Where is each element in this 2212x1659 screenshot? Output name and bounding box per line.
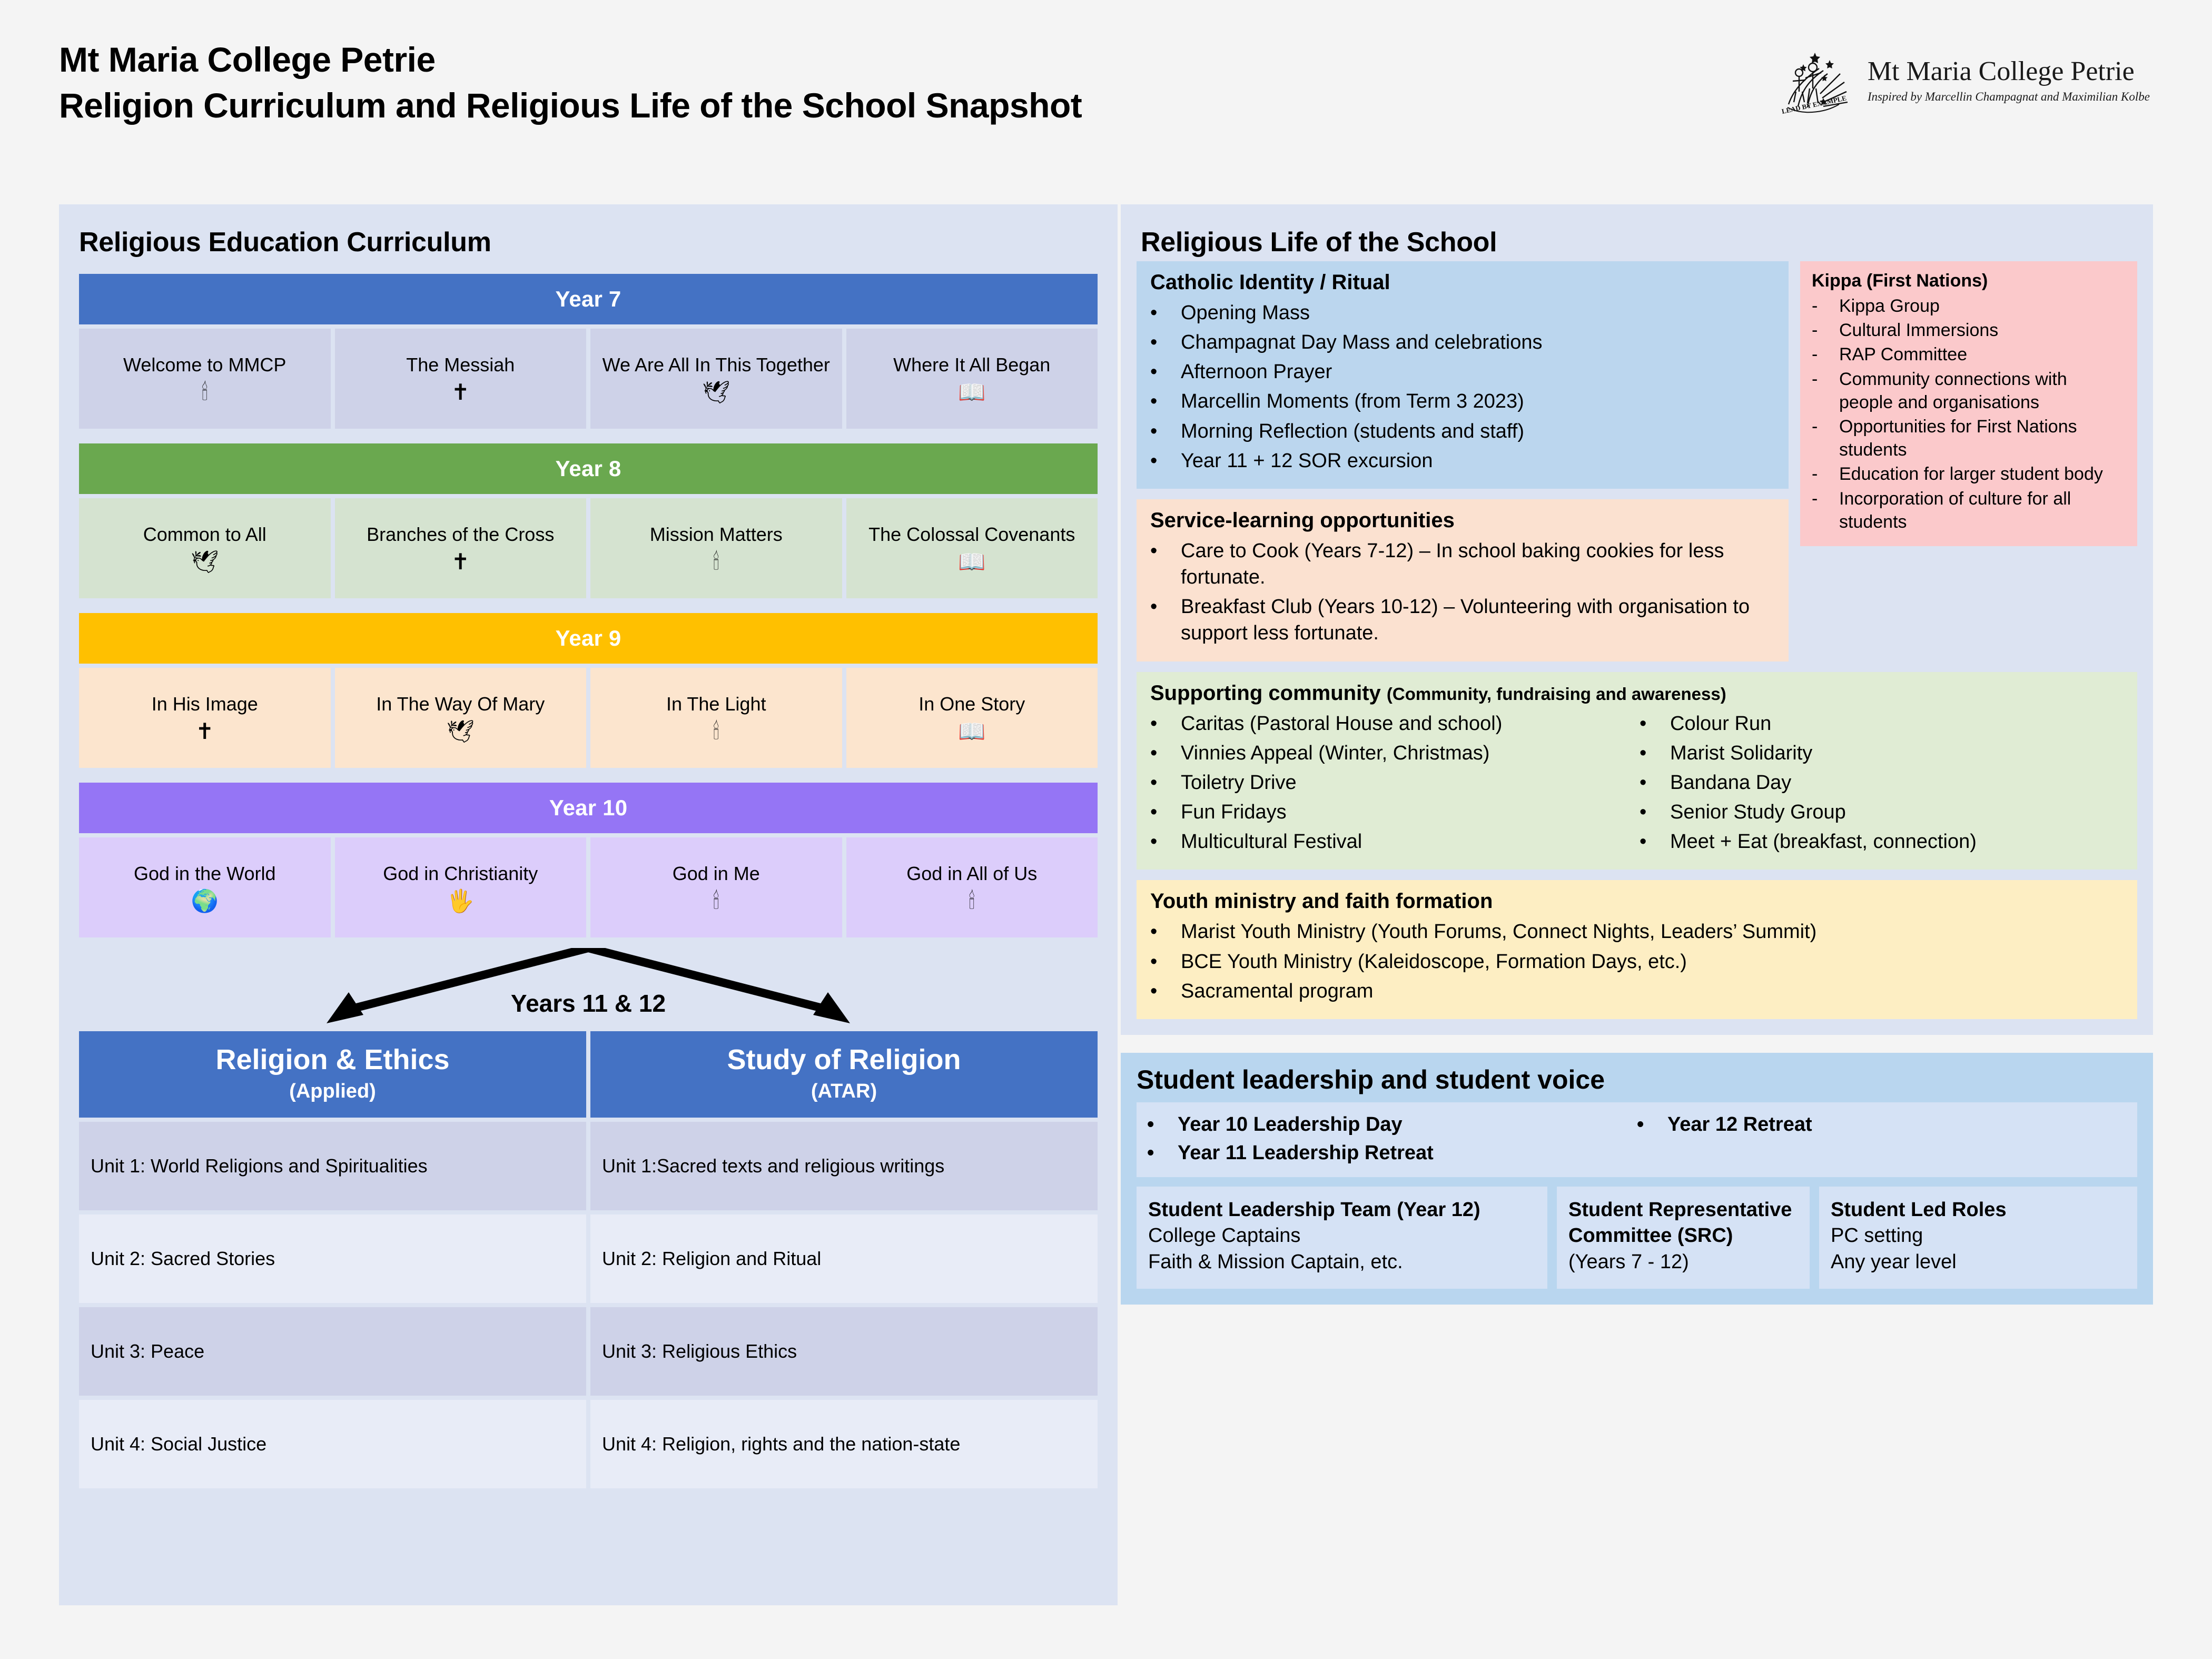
dash-icon: - xyxy=(1812,368,1839,414)
unit-card[interactable]: God in the World 🌍 xyxy=(79,837,331,937)
unit-column-religion-ethics: Unit 1: World Religions and Spiritualiti… xyxy=(79,1122,586,1488)
religious-life-panel-title: Religious Life of the School xyxy=(1121,204,2153,258)
year-10-units: God in the World 🌍 God in Christianity 🖐… xyxy=(79,837,1098,937)
bullet-icon: • xyxy=(1150,388,1181,414)
bullet-icon: • xyxy=(1147,1139,1178,1168)
unit-name: God in All of Us xyxy=(906,862,1037,886)
subject-header-religion-ethics[interactable]: Religion & Ethics (Applied) xyxy=(79,1031,586,1118)
kippa-heading: Kippa (First Nations) xyxy=(1812,271,2126,291)
supporting-community-columns: •Caritas (Pastoral House and school) •Vi… xyxy=(1150,710,2124,858)
unit-name: In The Way Of Mary xyxy=(376,692,545,716)
catholic-identity-heading: Catholic Identity / Ritual xyxy=(1150,271,1775,294)
logo-tagline: Inspired by Marcellin Champagnat and Max… xyxy=(1868,90,2150,104)
cross-icon: ✝ xyxy=(451,550,470,574)
unit-name: God in Christianity xyxy=(383,862,538,886)
unit-name: Branches of the Cross xyxy=(367,522,554,547)
unit-column-study-of-religion: Unit 1:Sacred texts and religious writin… xyxy=(590,1122,1098,1488)
years-11-12-label: Years 11 & 12 xyxy=(79,989,1098,1018)
card-title: Student Representative Committee (SRC) xyxy=(1568,1197,1798,1249)
senior-unit-table: Unit 1: World Religions and Spiritualiti… xyxy=(79,1122,1098,1488)
unit-name: The Messiah xyxy=(406,353,515,377)
table-row[interactable]: Unit 2: Religion and Ritual xyxy=(590,1214,1098,1303)
hand-icon: 🖐 xyxy=(447,889,474,913)
year-7-header: Year 7 xyxy=(79,274,1098,324)
dove-icon: 🕊 xyxy=(191,550,219,574)
list-item[interactable]: •BCE Youth Ministry (Kaleidoscope, Forma… xyxy=(1150,949,2124,975)
supporting-community-section: Supporting community (Community, fundrai… xyxy=(1137,672,2137,870)
unit-name: We Are All In This Together xyxy=(603,353,830,377)
subject-title: Study of Religion xyxy=(596,1044,1092,1075)
bullet-icon: • xyxy=(1640,740,1670,766)
unit-name: Welcome to MMCP xyxy=(123,353,286,377)
school-logo: LEAD BY EXAMPLE Mt Maria College Petrie … xyxy=(1775,41,2150,120)
list-item[interactable]: •Toiletry Drive xyxy=(1150,769,1634,796)
subject-title: Religion & Ethics xyxy=(84,1044,581,1075)
year-7-units: Welcome to MMCP 🕯 The Messiah ✝ We Are A… xyxy=(79,329,1098,429)
subject-subtitle: (Applied) xyxy=(84,1080,581,1104)
bullet-icon: • xyxy=(1150,740,1181,766)
unit-name: The Colossal Covenants xyxy=(868,522,1075,547)
unit-card[interactable]: Common to All 🕊 xyxy=(79,498,331,598)
religious-life-column: Religious Life of the School Catholic Id… xyxy=(1121,204,2153,1305)
year-block-7: Year 7 Welcome to MMCP 🕯 The Messiah ✝ W… xyxy=(79,274,1098,429)
year-block-10: Year 10 God in the World 🌍 God in Christ… xyxy=(79,783,1098,937)
list-item[interactable]: •Year 11 + 12 SOR excursion xyxy=(1150,448,1775,474)
bullet-icon: • xyxy=(1640,828,1670,855)
year-8-header: Year 8 xyxy=(79,443,1098,494)
list-item[interactable]: •Year 11 Leadership Retreat xyxy=(1147,1139,1637,1168)
list-item[interactable]: •Morning Reflection (students and staff) xyxy=(1150,418,1775,445)
list-item[interactable]: -Kippa Group xyxy=(1812,294,2126,318)
dash-icon: - xyxy=(1812,415,1839,461)
dash-icon: - xyxy=(1812,487,1839,534)
bullet-icon: • xyxy=(1150,799,1181,825)
open-book-icon: 📖 xyxy=(958,550,985,574)
curriculum-panel-title: Religious Education Curriculum xyxy=(59,204,1118,258)
card-line-1: College Captains xyxy=(1148,1223,1536,1249)
card-student-representative-committee[interactable]: Student Representative Committee (SRC) (… xyxy=(1557,1187,1810,1289)
year-9-units: In His Image ✝ In The Way Of Mary 🕊 In T… xyxy=(79,668,1098,768)
list-item[interactable]: •Senior Study Group xyxy=(1640,799,2124,825)
unit-name: In His Image xyxy=(152,692,258,716)
unit-name: God in the World xyxy=(134,862,275,886)
bullet-icon: • xyxy=(1150,594,1181,646)
unit-name: Common to All xyxy=(143,522,266,547)
unit-name: Where It All Began xyxy=(893,353,1050,377)
card-student-led-roles[interactable]: Student Led Roles PC setting Any year le… xyxy=(1819,1187,2137,1289)
page-title: Mt Maria College Petrie Religion Curricu… xyxy=(59,37,1082,129)
religious-life-left-stack: Catholic Identity / Ritual •Opening Mass… xyxy=(1137,261,1789,672)
list-item[interactable]: •Year 10 Leadership Day xyxy=(1147,1111,1637,1139)
bullet-icon: • xyxy=(1640,799,1670,825)
year-9-header: Year 9 xyxy=(79,613,1098,664)
list-item[interactable]: •Colour Run xyxy=(1640,710,2124,737)
unit-card[interactable]: Welcome to MMCP 🕯 xyxy=(79,329,331,429)
unit-name: God in Me xyxy=(673,862,760,886)
kippa-list: -Kippa Group -Cultural Immersions -RAP C… xyxy=(1812,294,2126,534)
bullet-icon: • xyxy=(1637,1111,1667,1139)
year-block-8: Year 8 Common to All 🕊 Branches of the C… xyxy=(79,443,1098,598)
year-10-header: Year 10 xyxy=(79,783,1098,833)
open-book-icon: 📖 xyxy=(958,719,985,744)
service-learning-section: Service-learning opportunities •Care to … xyxy=(1137,499,1789,661)
youth-ministry-list: •Marist Youth Ministry (Youth Forums, Co… xyxy=(1150,919,2124,1004)
bullet-icon: • xyxy=(1150,538,1181,590)
bullet-icon: • xyxy=(1640,769,1670,796)
list-item[interactable]: -Cultural Immersions xyxy=(1812,319,2126,342)
cross-icon: ✝ xyxy=(451,380,470,404)
table-row[interactable]: Unit 4: Religion, rights and the nation-… xyxy=(590,1400,1098,1488)
unit-card[interactable]: The Messiah ✝ xyxy=(335,329,587,429)
unit-card[interactable]: God in Christianity 🖐 xyxy=(335,837,587,937)
bullet-icon: • xyxy=(1150,828,1181,855)
supporting-community-list-left: •Caritas (Pastoral House and school) •Vi… xyxy=(1150,710,1634,858)
table-row[interactable]: Unit 2: Sacred Stories xyxy=(79,1214,586,1303)
bullet-icon: • xyxy=(1150,919,1181,945)
religious-education-curriculum-panel: Religious Education Curriculum Year 7 We… xyxy=(59,204,1118,1605)
senior-subjects: Religion & Ethics (Applied) Study of Rel… xyxy=(79,1031,1098,1488)
list-item[interactable]: •Vinnies Appeal (Winter, Christmas) xyxy=(1150,740,1634,766)
globe-icon: 🌍 xyxy=(191,889,219,913)
youth-ministry-heading: Youth ministry and faith formation xyxy=(1150,890,2124,913)
card-line-2: Any year level xyxy=(1831,1249,2126,1275)
service-learning-list: •Care to Cook (Years 7-12) – In school b… xyxy=(1150,538,1775,647)
leadership-events-box: •Year 10 Leadership Day •Year 11 Leaders… xyxy=(1137,1102,2137,1177)
card-line-1: (Years 7 - 12) xyxy=(1568,1249,1798,1275)
card-line-2: Faith & Mission Captain, etc. xyxy=(1148,1249,1536,1275)
year-8-units: Common to All 🕊 Branches of the Cross ✝ … xyxy=(79,498,1098,598)
list-item[interactable]: •Opening Mass xyxy=(1150,300,1775,326)
title-line-2: Religion Curriculum and Religious Life o… xyxy=(59,83,1082,129)
bullet-icon: • xyxy=(1150,978,1181,1004)
table-row[interactable]: Unit 4: Social Justice xyxy=(79,1400,586,1488)
bullet-icon: • xyxy=(1150,418,1181,445)
logo-name: Mt Maria College Petrie xyxy=(1868,57,2150,86)
unit-card[interactable]: Mission Matters 🕯 xyxy=(590,498,842,598)
list-item[interactable]: •Marcellin Moments (from Term 3 2023) xyxy=(1150,388,1775,414)
unit-card[interactable]: The Colossal Covenants 📖 xyxy=(846,498,1098,598)
list-item[interactable]: -Incorporation of culture for all studen… xyxy=(1812,487,2126,534)
card-student-leadership-team[interactable]: Student Leadership Team (Year 12) Colleg… xyxy=(1137,1187,1547,1289)
student-leadership-panel: Student leadership and student voice •Ye… xyxy=(1121,1053,2153,1305)
infographic-page: Mt Maria College Petrie Religion Curricu… xyxy=(0,0,2212,1659)
youth-ministry-section: Youth ministry and faith formation •Mari… xyxy=(1137,880,2137,1019)
page-header: Mt Maria College Petrie Religion Curricu… xyxy=(0,0,2212,195)
unit-card[interactable]: In One Story 📖 xyxy=(846,668,1098,768)
unit-name: In One Story xyxy=(919,692,1025,716)
list-item[interactable]: •Year 12 Retreat xyxy=(1637,1111,2127,1139)
list-item[interactable]: •Marist Youth Ministry (Youth Forums, Co… xyxy=(1150,919,2124,945)
list-item[interactable]: •Caritas (Pastoral House and school) xyxy=(1150,710,1634,737)
supporting-community-heading: Supporting community (Community, fundrai… xyxy=(1150,682,2124,705)
bullet-icon: • xyxy=(1150,448,1181,474)
list-item[interactable]: •Fun Fridays xyxy=(1150,799,1634,825)
list-item[interactable]: •Sacramental program xyxy=(1150,978,2124,1004)
list-item[interactable]: -Opportunities for First Nations student… xyxy=(1812,415,2126,461)
student-leadership-heading: Student leadership and student voice xyxy=(1137,1064,2137,1095)
catholic-identity-list: •Opening Mass •Champagnat Day Mass and c… xyxy=(1150,300,1775,474)
dove-icon: 🕊 xyxy=(702,380,730,404)
card-title: Student Led Roles xyxy=(1831,1197,2126,1223)
subject-subtitle: (ATAR) xyxy=(596,1080,1092,1104)
service-learning-heading: Service-learning opportunities xyxy=(1150,509,1775,532)
title-line-1: Mt Maria College Petrie xyxy=(59,37,1082,83)
card-line-1: PC setting xyxy=(1831,1223,2126,1249)
list-item[interactable]: •Meet + Eat (breakfast, connection) xyxy=(1640,828,2124,855)
senior-subject-headers: Religion & Ethics (Applied) Study of Rel… xyxy=(79,1031,1098,1118)
list-item[interactable]: •Care to Cook (Years 7-12) – In school b… xyxy=(1150,538,1775,590)
list-item[interactable]: •Breakfast Club (Years 10-12) – Voluntee… xyxy=(1150,594,1775,646)
card-title: Student Leadership Team (Year 12) xyxy=(1148,1197,1536,1223)
list-item[interactable]: -Community connections with people and o… xyxy=(1812,368,2126,414)
bullet-icon: • xyxy=(1640,710,1670,737)
unit-card[interactable]: In The Way Of Mary 🕊 xyxy=(335,668,587,768)
cross-icon: ✝ xyxy=(195,719,214,744)
unit-card[interactable]: God in All of Us 🕯 xyxy=(846,837,1098,937)
unit-card[interactable]: Branches of the Cross ✝ xyxy=(335,498,587,598)
leadership-role-cards: Student Leadership Team (Year 12) Colleg… xyxy=(1137,1187,2137,1289)
table-row[interactable]: Unit 3: Peace xyxy=(79,1307,586,1396)
supporting-community-list-right: •Colour Run •Marist Solidarity •Bandana … xyxy=(1640,710,2124,858)
unit-card[interactable]: God in Me 🕯 xyxy=(590,837,842,937)
logo-emblem-icon: LEAD BY EXAMPLE xyxy=(1775,41,1854,120)
bullet-icon: • xyxy=(1150,300,1181,326)
candle-icon: 🕯 xyxy=(969,889,975,913)
list-item[interactable]: •Multicultural Festival xyxy=(1150,828,1634,855)
bullet-icon: • xyxy=(1150,359,1181,385)
unit-card[interactable]: We Are All In This Together 🕊 xyxy=(590,329,842,429)
candle-icon: 🕯 xyxy=(713,719,719,744)
religious-life-of-the-school-panel: Religious Life of the School Catholic Id… xyxy=(1121,204,2153,1035)
religious-life-top-grid: Catholic Identity / Ritual •Opening Mass… xyxy=(1121,258,2153,672)
dove-icon: 🕊 xyxy=(447,719,475,744)
unit-card[interactable]: In The Light 🕯 xyxy=(590,668,842,768)
dash-icon: - xyxy=(1812,343,1839,366)
unit-card[interactable]: Where It All Began 📖 xyxy=(846,329,1098,429)
bullet-icon: • xyxy=(1150,949,1181,975)
year-blocks: Year 7 Welcome to MMCP 🕯 The Messiah ✝ W… xyxy=(59,258,1118,937)
bullet-icon: • xyxy=(1150,329,1181,355)
kippa-first-nations-section: Kippa (First Nations) -Kippa Group -Cult… xyxy=(1800,261,2137,546)
table-row[interactable]: Unit 1: World Religions and Spiritualiti… xyxy=(79,1122,586,1210)
list-item[interactable]: •Marist Solidarity xyxy=(1640,740,2124,766)
leadership-events-left: •Year 10 Leadership Day •Year 11 Leaders… xyxy=(1147,1111,1637,1168)
subject-header-study-of-religion[interactable]: Study of Religion (ATAR) xyxy=(590,1031,1098,1118)
table-row[interactable]: Unit 1:Sacred texts and religious writin… xyxy=(590,1122,1098,1210)
unit-card[interactable]: In His Image ✝ xyxy=(79,668,331,768)
pathway-arrows: Years 11 & 12 xyxy=(79,952,1098,1031)
leadership-events-right: •Year 12 Retreat xyxy=(1637,1111,2127,1168)
logo-wordmark: Mt Maria College Petrie Inspired by Marc… xyxy=(1868,57,2150,104)
list-item[interactable]: -Education for larger student body xyxy=(1812,462,2126,486)
list-item[interactable]: •Afternoon Prayer xyxy=(1150,359,1775,385)
supporting-community-heading-sub: (Community, fundraising and awareness) xyxy=(1387,684,1726,704)
table-row[interactable]: Unit 3: Religious Ethics xyxy=(590,1307,1098,1396)
supporting-community-heading-main: Supporting community xyxy=(1150,682,1381,705)
bullet-icon: • xyxy=(1147,1111,1178,1139)
candle-icon: 🕯 xyxy=(713,550,719,574)
dash-icon: - xyxy=(1812,294,1839,318)
bullet-icon: • xyxy=(1150,769,1181,796)
catholic-identity-section: Catholic Identity / Ritual •Opening Mass… xyxy=(1137,261,1789,489)
candle-icon: 🕯 xyxy=(202,380,208,404)
dash-icon: - xyxy=(1812,462,1839,486)
list-item[interactable]: •Bandana Day xyxy=(1640,769,2124,796)
dash-icon: - xyxy=(1812,319,1839,342)
open-book-icon: 📖 xyxy=(958,380,985,404)
unit-name: Mission Matters xyxy=(650,522,783,547)
year-block-9: Year 9 In His Image ✝ In The Way Of Mary… xyxy=(79,613,1098,768)
list-item[interactable]: •Champagnat Day Mass and celebrations xyxy=(1150,329,1775,355)
unit-name: In The Light xyxy=(666,692,766,716)
list-item[interactable]: -RAP Committee xyxy=(1812,343,2126,366)
candle-icon: 🕯 xyxy=(713,889,719,913)
bullet-icon: • xyxy=(1150,710,1181,737)
